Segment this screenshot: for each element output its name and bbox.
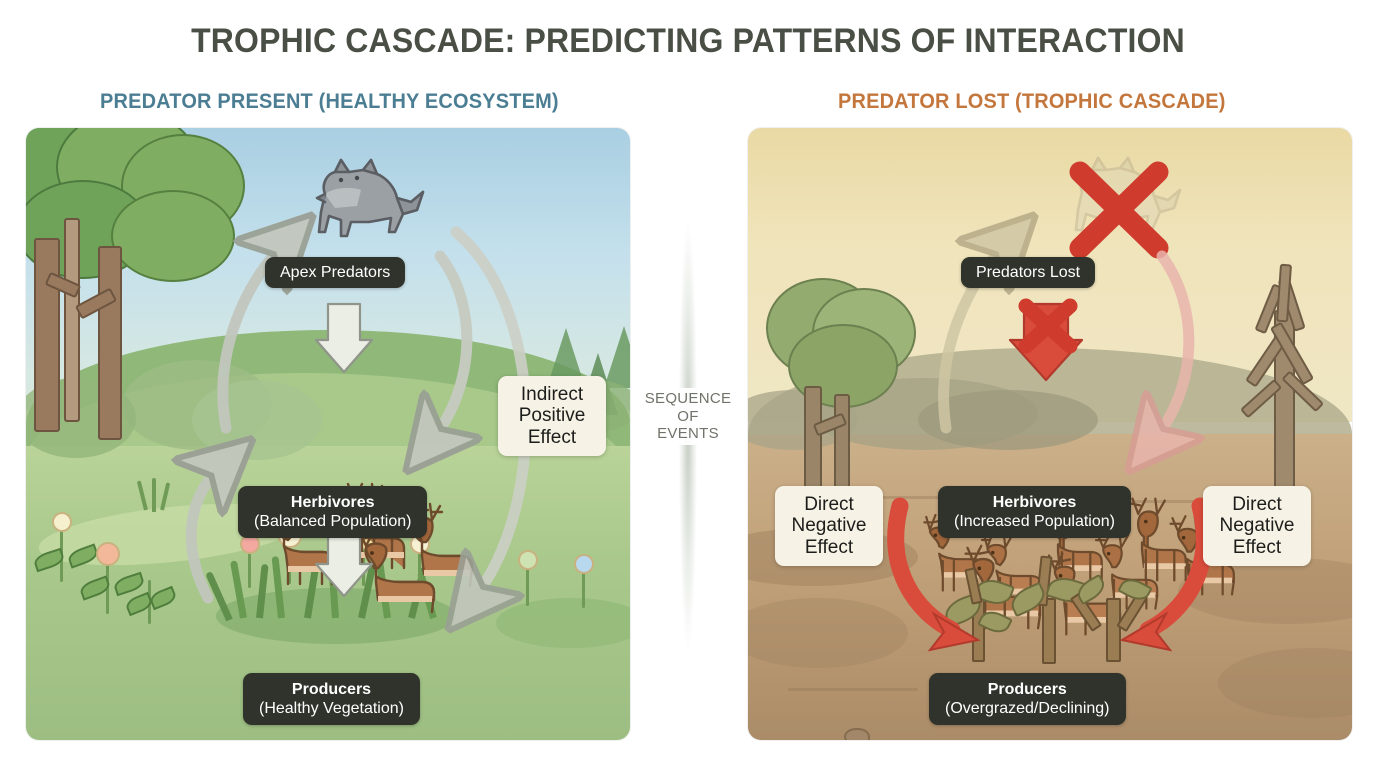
label-producers-left[interactable]: Producers (Healthy Vegetation) — [243, 673, 420, 725]
label-producers-right[interactable]: Producers (Overgrazed/Declining) — [929, 673, 1126, 725]
sequence-of-events-label: SEQUENCE OF EVENTS — [640, 388, 737, 445]
callout-direct-negative-effect-left[interactable]: Direct Negative Effect — [775, 486, 883, 566]
red-x-link-broken-icon — [1016, 296, 1080, 361]
page-title: TROPHIC CASCADE: PREDICTING PATTERNS OF … — [41, 22, 1334, 61]
scene-trophic-cascade — [748, 128, 1352, 740]
panel-subtitle-right: PREDATOR LOST (TROPHIC CASCADE) — [838, 90, 1226, 114]
red-x-predator-removed-icon — [1066, 158, 1172, 267]
flower-icon — [574, 554, 594, 574]
panel-subtitle-left: PREDATOR PRESENT (HEALTHY ECOSYSTEM) — [100, 90, 559, 114]
deer-icon — [336, 526, 446, 622]
label-predators-lost[interactable]: Predators Lost — [961, 257, 1095, 288]
bush-shape — [192, 380, 322, 460]
infographic-root: TROPHIC CASCADE: PREDICTING PATTERNS OF … — [0, 0, 1376, 768]
label-herbivores-left[interactable]: Herbivores (Balanced Population) — [238, 486, 427, 538]
conifer-tree-icon — [604, 326, 630, 388]
rock-shape — [844, 728, 870, 740]
flower-icon — [52, 512, 72, 532]
flower-icon — [96, 542, 120, 566]
panel-predator-present: Apex Predators Herbivores (Balanced Popu… — [26, 128, 630, 740]
label-herbivores-right[interactable]: Herbivores (Increased Population) — [938, 486, 1131, 538]
wolf-icon — [291, 148, 431, 258]
label-apex-predators[interactable]: Apex Predators — [265, 257, 405, 288]
panel-predator-lost: Predators Lost Herbivores (Increased Pop… — [748, 128, 1352, 740]
dry-bush — [918, 390, 1098, 450]
callout-indirect-positive-effect[interactable]: Indirect Positive Effect — [498, 376, 606, 456]
flower-icon — [518, 550, 538, 570]
callout-direct-negative-effect-right[interactable]: Direct Negative Effect — [1203, 486, 1311, 566]
